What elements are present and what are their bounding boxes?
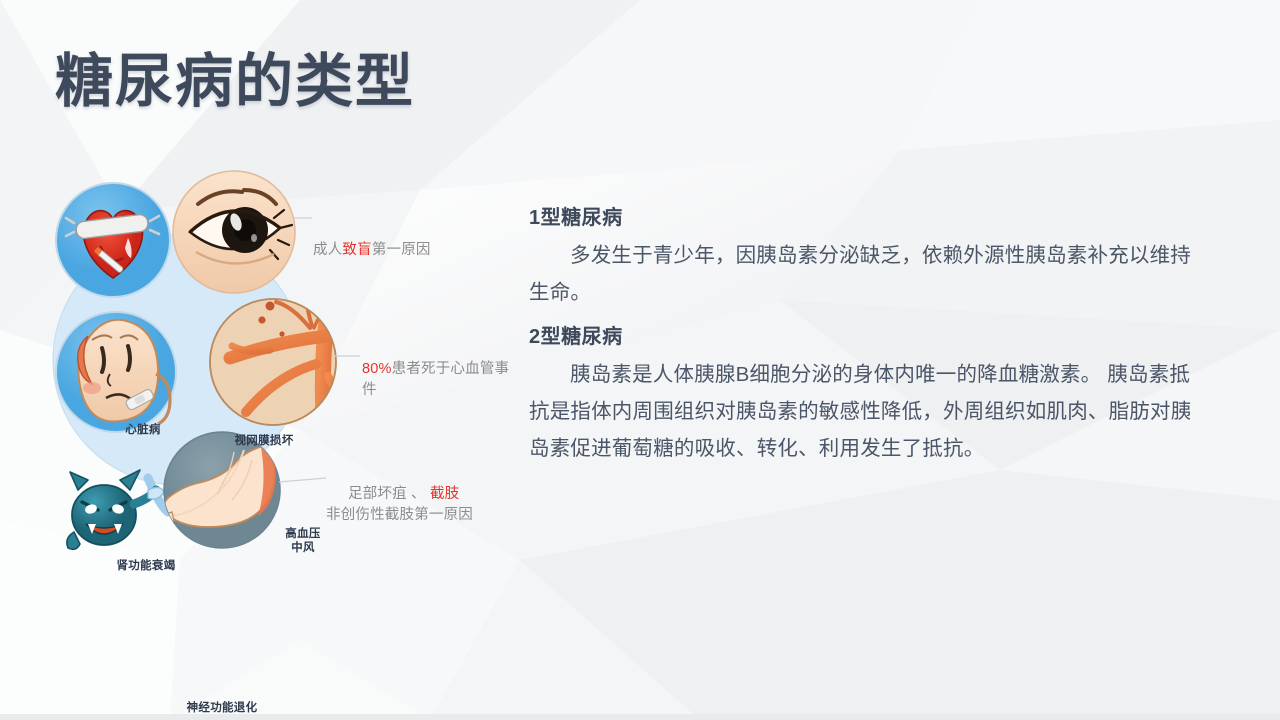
note-foot-part-1: 足部坏疽 、	[348, 486, 430, 502]
note-eye: 成人致盲第一原因	[313, 219, 493, 261]
circle-eye	[173, 171, 295, 293]
note-vessel-part-1: 80%	[362, 361, 392, 377]
content-column: 1型糖尿病 多发生于青少年，因胰岛素分泌缺乏，依赖外源性胰岛素补充以维持生命。 …	[529, 205, 1199, 479]
note-vessel: 80%患者死于心血管事件	[362, 338, 512, 401]
section-body-type1: 多发生于青少年，因胰岛素分泌缺乏，依赖外源性胰岛素补充以维持生命。	[529, 237, 1199, 312]
circle-caption-heart: 心脏病	[125, 424, 160, 438]
note-foot-line-1: 足部坏疽 、 截肢	[326, 484, 526, 505]
circle-caption-eye: 视网膜损坏	[235, 435, 294, 449]
note-foot: 足部坏疽 、 截肢非创伤性截肢第一原因	[326, 463, 526, 547]
slide-canvas: 糖尿病的类型	[0, 0, 1280, 720]
note-eye-part-3: 第一原因	[372, 242, 431, 258]
circle-foot	[162, 432, 280, 548]
note-eye-part-1: 成人	[313, 242, 342, 258]
page-title: 糖尿病的类型	[55, 52, 415, 113]
note-eye-part-2: 致盲	[342, 242, 371, 258]
circle-caption-vessel: 高血压 中风	[285, 528, 320, 555]
circle-kidney	[56, 312, 176, 432]
note-foot-part-2: 截肢	[430, 486, 459, 502]
section-heading-type2: 2型糖尿病	[529, 324, 1199, 351]
diabetes-complications-infographic: 心脏病 视网膜损坏 肾功能衰竭 高血压 中风 神经功能退化 成人致盲第一原因 8…	[30, 160, 540, 580]
section-heading-type1: 1型糖尿病	[529, 205, 1199, 232]
circle-heart	[56, 183, 170, 297]
circle-caption-foot: 神经功能退化	[187, 702, 258, 716]
section-body-type2: 胰岛素是人体胰腺B细胞分泌的身体内唯一的降血糖激素。 胰岛素抵抗是指体内周围组织…	[529, 356, 1199, 468]
circle-caption-kidney: 肾功能衰竭	[117, 560, 176, 574]
note-foot-line-2: 非创伤性截肢第一原因	[326, 505, 526, 526]
